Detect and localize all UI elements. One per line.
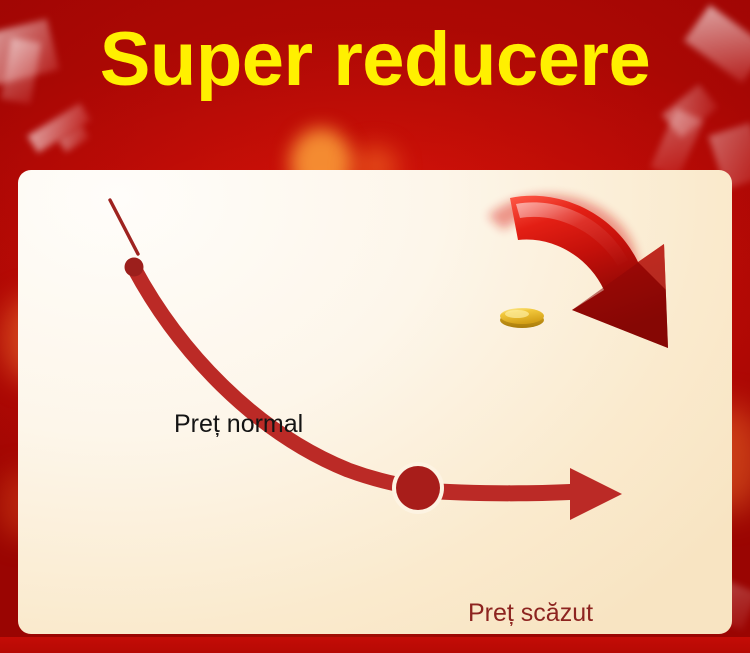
gold-coin-icon (500, 308, 544, 328)
trend-arrow-head-icon (416, 468, 622, 520)
low-price-label: Preț scăzut (468, 599, 593, 628)
promo-banner: Super reducere (0, 0, 750, 653)
normal-price-dot (125, 258, 144, 277)
bottom-accent-strip (0, 637, 750, 653)
price-trend-curve (134, 268, 430, 489)
low-price-dot (392, 462, 444, 514)
normal-price-label: Preț normal (174, 410, 303, 439)
curve-start-tick (110, 200, 138, 254)
page-title: Super reducere (0, 22, 750, 98)
promo-card: Preț normal Preț scăzut Doar o dată pe v… (18, 170, 732, 634)
price-drop-chart (18, 170, 732, 634)
